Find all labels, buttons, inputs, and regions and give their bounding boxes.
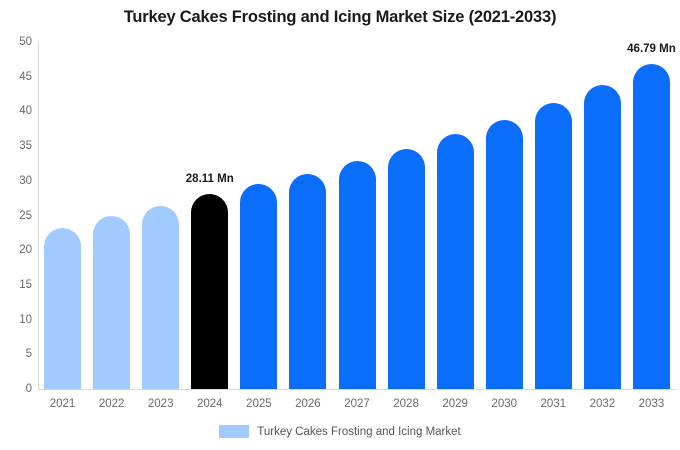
bar[interactable] bbox=[240, 184, 277, 389]
bar[interactable] bbox=[93, 216, 130, 389]
bar-value-label: 46.79 Mn bbox=[627, 43, 676, 55]
x-axis-tick: 2030 bbox=[491, 398, 517, 410]
bar[interactable] bbox=[339, 161, 376, 389]
x-axis-tick: 2025 bbox=[246, 398, 272, 410]
bar[interactable] bbox=[191, 194, 228, 389]
x-axis-tick: 2026 bbox=[295, 398, 321, 410]
x-axis-tick: 2027 bbox=[344, 398, 370, 410]
y-axis-tick: 15 bbox=[2, 279, 32, 291]
x-axis-line bbox=[38, 389, 676, 390]
x-axis-tick: 2029 bbox=[442, 398, 468, 410]
x-axis-tick: 2024 bbox=[197, 398, 223, 410]
bar[interactable] bbox=[486, 120, 523, 389]
y-axis-tick: 20 bbox=[2, 244, 32, 256]
bar[interactable] bbox=[535, 103, 572, 389]
bars-layer bbox=[38, 42, 676, 389]
x-axis-tick: 2032 bbox=[590, 398, 616, 410]
bar[interactable] bbox=[289, 174, 326, 389]
x-axis-tick: 2028 bbox=[393, 398, 419, 410]
y-axis-tick: 50 bbox=[2, 36, 32, 48]
x-axis-tick: 2033 bbox=[639, 398, 665, 410]
legend-swatch-icon bbox=[219, 425, 249, 438]
y-axis-tick-labels: 05101520253035404550 bbox=[0, 0, 32, 450]
y-axis-tick: 0 bbox=[2, 383, 32, 395]
legend-item-label: Turkey Cakes Frosting and Icing Market bbox=[257, 426, 460, 438]
bar[interactable] bbox=[584, 85, 621, 389]
x-axis-tick: 2021 bbox=[50, 398, 76, 410]
bar[interactable] bbox=[388, 149, 425, 389]
bar-value-label: 28.11 Mn bbox=[186, 173, 234, 185]
y-axis-tick: 40 bbox=[2, 105, 32, 117]
x-axis-tick: 2022 bbox=[99, 398, 125, 410]
bar-chart: Turkey Cakes Frosting and Icing Market S… bbox=[0, 0, 680, 450]
chart-title: Turkey Cakes Frosting and Icing Market S… bbox=[0, 8, 680, 27]
x-axis-tick: 2023 bbox=[148, 398, 174, 410]
x-axis-tick: 2031 bbox=[541, 398, 567, 410]
chart-legend: Turkey Cakes Frosting and Icing Market bbox=[0, 425, 680, 438]
bar[interactable] bbox=[142, 206, 179, 389]
bar[interactable] bbox=[437, 134, 474, 389]
bar[interactable] bbox=[633, 64, 670, 389]
y-axis-tick: 35 bbox=[2, 140, 32, 152]
y-axis-tick: 5 bbox=[2, 348, 32, 360]
y-axis-tick: 25 bbox=[2, 210, 32, 222]
y-axis-tick: 10 bbox=[2, 314, 32, 326]
y-axis-tick: 30 bbox=[2, 175, 32, 187]
bar[interactable] bbox=[44, 228, 81, 389]
y-axis-tick: 45 bbox=[2, 71, 32, 83]
